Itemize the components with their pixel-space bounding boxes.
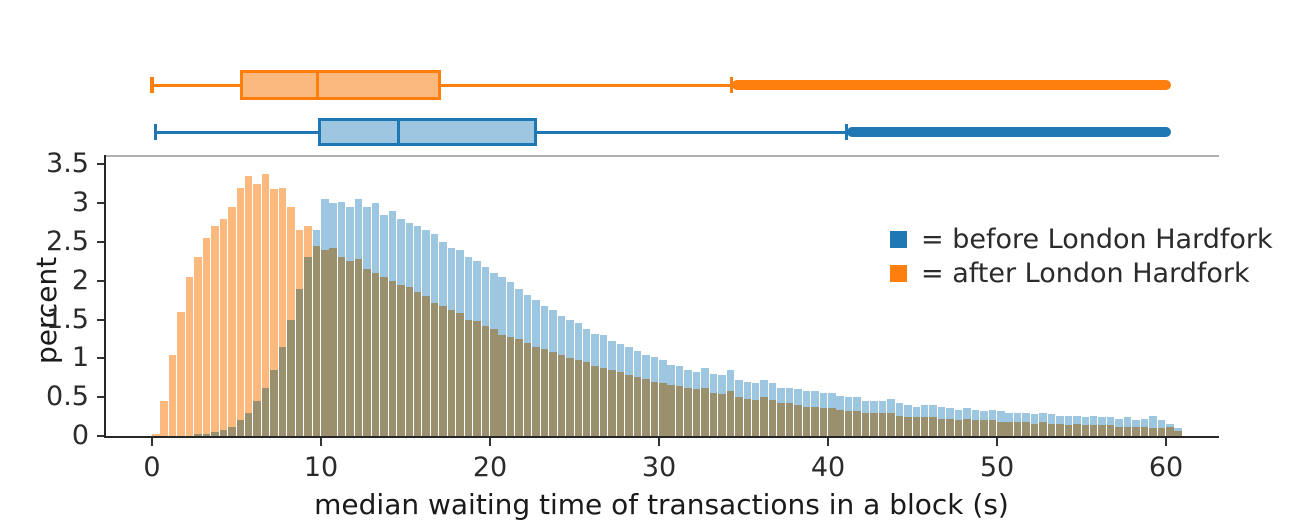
histogram-bar-before — [803, 391, 811, 436]
boxplot-after-whisker-high — [441, 84, 732, 87]
histogram-bar-before — [448, 248, 456, 436]
histogram-bar-after — [203, 238, 211, 436]
histogram-bar-before — [727, 370, 735, 436]
y-tick-mark — [97, 202, 104, 204]
histogram-bar-after — [253, 184, 261, 436]
histogram-bar-before — [329, 203, 337, 436]
histogram-bar-before — [1082, 417, 1090, 436]
x-tick-mark — [489, 438, 491, 446]
histogram-bar-before — [287, 320, 295, 436]
histogram-bar-before — [414, 226, 422, 436]
x-tick-label: 40 — [768, 454, 888, 481]
histogram-bar-before — [245, 413, 253, 436]
histogram-bar-before — [532, 300, 540, 436]
histogram-bar-after — [245, 176, 253, 436]
legend-label: = after London Hardfork — [921, 258, 1250, 289]
histogram-bar-after — [237, 188, 245, 436]
histogram-bar-before — [608, 341, 616, 436]
boxplot-before-box — [318, 118, 538, 146]
x-tick-label: 60 — [1106, 454, 1226, 481]
y-tick-mark — [97, 357, 104, 359]
histogram-bar-before — [845, 397, 853, 436]
histogram-bar-before — [769, 383, 777, 436]
histogram-bar-before — [321, 199, 329, 436]
legend-swatch-icon — [890, 265, 907, 282]
y-tick-label: 1.5 — [4, 306, 89, 333]
histogram-bar-before — [237, 420, 245, 436]
histogram-bar-before — [710, 374, 718, 436]
y-tick-mark — [97, 435, 104, 437]
histogram-bar-before — [482, 267, 490, 436]
histogram-bar-before — [558, 316, 566, 436]
histogram-bar-before — [220, 430, 228, 436]
x-tick-mark — [658, 438, 660, 446]
histogram-bar-before — [1098, 417, 1106, 436]
histogram-bar-after — [169, 355, 177, 437]
histogram-bar-before — [253, 401, 261, 436]
histogram-bar-before — [786, 388, 794, 436]
histogram-bar-before — [406, 223, 414, 436]
histogram-bar-before — [270, 370, 278, 436]
histogram-bar-before — [659, 360, 667, 436]
histogram-bar-before — [617, 344, 625, 436]
histogram-bar-after — [152, 434, 160, 436]
histogram-bar-before — [963, 408, 971, 436]
histogram-bar-before — [1132, 420, 1140, 436]
x-tick-mark — [996, 438, 998, 446]
histogram-bar-before — [1107, 417, 1115, 436]
histogram-bar-before — [515, 289, 523, 436]
histogram-bar-after — [211, 226, 219, 436]
histogram-bar-before — [667, 365, 675, 436]
boxplot-after-whisker-low — [152, 84, 240, 87]
histogram-bar-before — [1056, 416, 1064, 436]
legend-label: = before London Hardfork — [921, 224, 1273, 255]
histogram-bar-before — [490, 273, 498, 436]
histogram-bar-before — [397, 219, 405, 436]
histogram-bar-before — [524, 295, 532, 436]
histogram-bar-before — [203, 434, 211, 436]
y-tick-mark — [97, 163, 104, 165]
histogram-bar-before — [972, 410, 980, 436]
histogram-bar-before — [1166, 424, 1174, 436]
histogram-bar-after — [160, 401, 168, 436]
histogram-bar-before — [701, 368, 709, 436]
y-tick-label: 3.5 — [4, 150, 89, 177]
boxplot-before-cap-low — [154, 124, 158, 140]
y-tick-mark — [97, 241, 104, 243]
x-tick-label: 0 — [92, 454, 212, 481]
histogram-bar-before — [1090, 416, 1098, 436]
y-tick-label: 0 — [4, 422, 89, 449]
histogram-bar-before — [946, 408, 954, 436]
x-axis-line — [104, 436, 1219, 438]
histogram-bar-before — [228, 427, 236, 436]
histogram-bar-after — [177, 312, 185, 436]
histogram-bar-before — [904, 405, 912, 436]
histogram-bar-before — [651, 357, 659, 436]
histogram-bar-before — [389, 211, 397, 436]
boxplot-after-median — [316, 70, 319, 100]
histogram-bar-before — [583, 329, 591, 436]
histogram-bar-before — [211, 432, 219, 436]
legend-swatch-icon — [890, 231, 907, 248]
histogram-bar-before — [380, 215, 388, 436]
histogram-bar-before — [1005, 413, 1013, 436]
histogram-bar-before — [338, 202, 346, 436]
histogram-bar-after — [228, 207, 236, 436]
histogram-bar-before — [887, 399, 895, 436]
histogram-bar-before — [625, 347, 633, 436]
histogram-bar-before — [693, 372, 701, 436]
histogram-bar-before — [1149, 416, 1157, 436]
boxplot-before-whisker-low — [155, 131, 317, 134]
histogram-bar-before — [896, 403, 904, 436]
histogram-bar-before — [304, 257, 312, 436]
histogram-bar-before — [1141, 419, 1149, 436]
histogram-bar-before — [422, 230, 430, 436]
histogram-bar-before — [262, 388, 270, 436]
histogram-bar-before — [752, 383, 760, 436]
histogram-bar-after — [186, 277, 194, 436]
histogram-bar-before — [1115, 419, 1123, 436]
y-tick-mark — [97, 396, 104, 398]
histogram-bar-before — [313, 230, 321, 436]
histogram-bar-before — [1039, 413, 1047, 436]
histogram-bar-before — [1031, 414, 1039, 436]
histogram-bar-before — [828, 393, 836, 436]
histogram-bar-before — [989, 410, 997, 436]
histogram-bar-before — [642, 355, 650, 437]
histogram-bar-before — [980, 411, 988, 436]
legend-entry: = before London Hardfork — [890, 222, 1273, 256]
x-tick-label: 30 — [599, 454, 719, 481]
boxplot-before-whisker-high — [537, 131, 846, 134]
histogram-bar-before — [566, 320, 574, 436]
histogram-bar-before — [431, 234, 439, 436]
histogram-plot-area — [104, 155, 1219, 436]
histogram-bar-after — [194, 257, 202, 436]
histogram-bar-before — [296, 289, 304, 436]
figure: percent 00.511.522.533.5 0102030405060 m… — [0, 0, 1300, 524]
histogram-bar-before — [836, 396, 844, 436]
histogram-bar-before — [744, 382, 752, 436]
histogram-bar-before — [955, 410, 963, 436]
y-tick-label: 2 — [4, 267, 89, 294]
histogram-bar-before — [363, 207, 371, 436]
histogram-bar-before — [794, 389, 802, 436]
x-tick-mark — [1165, 438, 1167, 446]
histogram-bar-before — [600, 335, 608, 436]
x-tick-mark — [151, 438, 153, 446]
x-tick-mark — [320, 438, 322, 446]
histogram-bar-before — [194, 434, 202, 436]
histogram-bar-before — [929, 405, 937, 436]
histogram-bar-before — [862, 401, 870, 436]
boxplot-after-cap-low — [150, 77, 154, 93]
boxplot-after-box — [240, 70, 441, 100]
x-tick-label: 20 — [430, 454, 550, 481]
histogram-bar-before — [1174, 428, 1182, 436]
histogram-bar-before — [684, 370, 692, 436]
y-axis-line — [104, 155, 106, 438]
boxplot-before-median — [397, 118, 400, 146]
histogram-bar-before — [870, 401, 878, 436]
x-tick-label: 10 — [261, 454, 381, 481]
histogram-bar-before — [938, 407, 946, 436]
y-tick-label: 2.5 — [4, 228, 89, 255]
histogram-bar-before — [676, 366, 684, 436]
y-tick-label: 3 — [4, 189, 89, 216]
histogram-bar-before — [465, 257, 473, 436]
histogram-bar-before — [498, 277, 506, 436]
histogram-bar-before — [279, 347, 287, 436]
histogram-bar-before — [439, 242, 447, 436]
histogram-bar-before — [820, 393, 828, 436]
histogram-bar-before — [1073, 416, 1081, 436]
boxplot-before-outliers — [847, 127, 1171, 137]
boxplot-panel — [0, 0, 1300, 155]
histogram-bar-before — [1048, 414, 1056, 436]
histogram-bar-before — [921, 405, 929, 436]
y-tick-mark — [97, 280, 104, 282]
y-tick-mark — [97, 319, 104, 321]
histogram-bar-before — [507, 282, 515, 436]
histogram-bar-before — [541, 306, 549, 436]
legend-entry: = after London Hardfork — [890, 256, 1273, 290]
histogram-bar-before — [997, 411, 1005, 436]
legend: = before London Hardfork= after London H… — [890, 222, 1273, 290]
histogram-bar-before — [777, 388, 785, 436]
histogram-bar-before — [811, 391, 819, 436]
boxplot-after-outliers — [732, 80, 1171, 90]
histogram-bar-before — [372, 203, 380, 436]
histogram-bar-before — [718, 375, 726, 436]
histogram-bar-before — [346, 207, 354, 436]
histogram-bar-before — [1065, 416, 1073, 436]
y-tick-label: 1 — [4, 344, 89, 371]
histogram-bar-before — [456, 250, 464, 436]
histogram-bar-before — [735, 380, 743, 436]
x-tick-label: 50 — [937, 454, 1057, 481]
histogram-bar-before — [473, 261, 481, 436]
histogram-bar-before — [760, 380, 768, 436]
x-axis-title: median waiting time of transactions in a… — [0, 488, 1300, 521]
histogram-bar-before — [575, 323, 583, 436]
histogram-bar-before — [879, 401, 887, 436]
y-tick-label: 0.5 — [4, 383, 89, 410]
histogram-bar-before — [1158, 420, 1166, 436]
histogram-bar-before — [634, 351, 642, 436]
histogram-bar-before — [1022, 413, 1030, 436]
x-tick-mark — [827, 438, 829, 446]
histogram-bar-before — [1124, 417, 1132, 436]
histogram-bar-before — [591, 334, 599, 436]
histogram-bar-before — [549, 310, 557, 436]
histogram-bar-before — [853, 397, 861, 436]
histogram-bar-before — [913, 407, 921, 436]
histogram-bar-before — [1014, 413, 1022, 436]
histogram-bar-after — [220, 219, 228, 436]
histogram-bar-before — [355, 199, 363, 436]
